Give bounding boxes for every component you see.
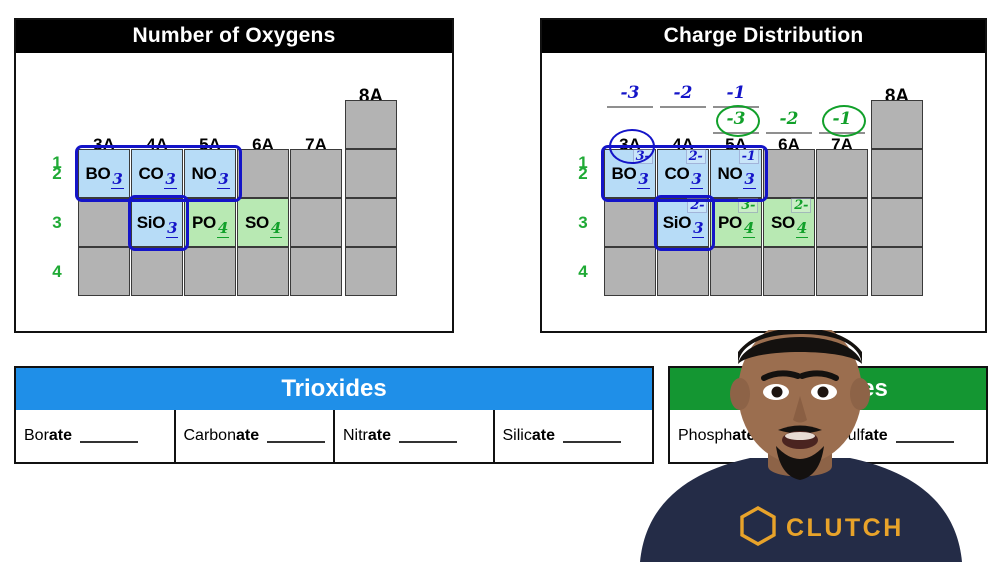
handwritten-subscript: 3: [690, 170, 702, 189]
oxyanion-cell-no3: NO3-1: [710, 149, 762, 198]
formula: SiO3: [137, 213, 178, 233]
oxyanion-label: Borate: [24, 427, 72, 445]
green-circle-5A: [716, 105, 760, 137]
handwritten-charge: 2-: [686, 149, 706, 164]
noble-gas-cell: [345, 149, 397, 198]
handwritten-charge: 2-: [687, 198, 707, 213]
presenter-figure: CLUTCH: [600, 330, 1000, 562]
handwritten-subscript: 3: [217, 170, 229, 189]
formula: BO33-: [611, 164, 648, 184]
element-cell: [763, 149, 815, 198]
handwritten-subscript: 3: [692, 219, 704, 238]
element-cell: [237, 247, 289, 296]
handwritten-subscript: 4: [217, 219, 229, 238]
oxyanion-label: Silicate: [503, 427, 555, 445]
noble-gas-cell: [345, 247, 397, 296]
number-of-oxygens-panel: Number of Oxygens 3A(3)4A(4)5A(5)6A(6)7A…: [14, 18, 454, 333]
right-panel-title: Charge Distribution: [542, 20, 985, 53]
formula: CO32-: [664, 164, 701, 184]
element-cell: [604, 247, 656, 296]
formula: SO42-: [771, 213, 807, 233]
charge-rule: [660, 106, 706, 108]
element-cell: [816, 149, 868, 198]
oxyanion-cell-bo3: BO3: [78, 149, 130, 198]
green-charge-6A: -2: [763, 109, 815, 129]
charge-rule: [766, 132, 812, 134]
blue-charge-4A: -2: [657, 83, 709, 103]
element-cell: [78, 198, 130, 247]
handwritten-subscript: 4: [270, 219, 282, 238]
element-cell: [78, 247, 130, 296]
row-label-3: 3: [46, 213, 68, 233]
oxyanion-cell-no3: NO3: [184, 149, 236, 198]
element-cell: [604, 198, 656, 247]
element-cell: [131, 247, 183, 296]
handwritten-subscript: 4: [743, 219, 755, 238]
row-label-4: 4: [572, 262, 594, 282]
element-cell: [290, 247, 342, 296]
noble-gas-cell: [871, 247, 923, 296]
noble-gas-cell: [345, 100, 397, 149]
answer-blank[interactable]: [80, 430, 138, 443]
handwritten-charge: 2-: [791, 198, 811, 213]
left-periodic-fragment: 3A(3)4A(4)5A(5)6A(6)7A(7)8A(8)1234BO3CO3…: [16, 53, 452, 331]
element-cell: [816, 247, 868, 296]
oxyanion-cell-sio3: SiO3: [131, 198, 183, 247]
oxyanion-cell-po4: PO4: [184, 198, 236, 247]
right-periodic-fragment: 3A(3)4A(4)5A(5)6A(6)7A(7)8A(8)1234BO33-C…: [542, 53, 985, 331]
noble-gas-cell: [871, 198, 923, 247]
formula: PO4: [192, 213, 228, 233]
oxyanion-name-cell: Carbonate: [176, 410, 336, 462]
oxyanion-label: Nitrate: [343, 427, 391, 445]
oxyanion-cell-po4: PO43-: [710, 198, 762, 247]
answer-blank[interactable]: [399, 430, 457, 443]
charge-distribution-panel: Charge Distribution 3A(3)4A(4)5A(5)6A(6)…: [540, 18, 987, 333]
oxyanion-cell-so4: SO4: [237, 198, 289, 247]
formula: NO3: [191, 164, 228, 184]
trioxides-items: BorateCarbonateNitrateSilicate: [16, 410, 652, 462]
handwritten-subscript: 3: [164, 170, 176, 189]
oxyanion-cell-sio3: SiO32-: [657, 198, 709, 247]
answer-blank[interactable]: [267, 430, 325, 443]
oxyanion-name-cell: Borate: [16, 410, 176, 462]
element-cell: [184, 247, 236, 296]
element-cell: [290, 198, 342, 247]
element-cell: [763, 247, 815, 296]
noble-gas-cell: [871, 100, 923, 149]
left-panel-title: Number of Oxygens: [16, 20, 452, 53]
element-cell: [290, 149, 342, 198]
handwritten-subscript: 3: [111, 170, 123, 189]
noble-gas-cell: [871, 149, 923, 198]
formula: SO4: [245, 213, 281, 233]
blue-charge-5A: -1: [710, 83, 762, 103]
formula: NO3-1: [717, 164, 754, 184]
handwritten-charge: -1: [739, 149, 759, 164]
element-cell: [816, 198, 868, 247]
green-circle-7A: [822, 105, 866, 137]
handwritten-subscript: 3: [637, 170, 649, 189]
oxyanion-cell-co3: CO3: [131, 149, 183, 198]
row-label-2: 2: [46, 164, 68, 184]
oxyanion-cell-co3: CO32-: [657, 149, 709, 198]
clutch-logo-text: CLUTCH: [786, 514, 904, 542]
element-cell: [657, 247, 709, 296]
handwritten-subscript: 4: [796, 219, 808, 238]
lesson-slide: Number of Oxygens 3A(3)4A(4)5A(5)6A(6)7A…: [0, 0, 1000, 562]
element-cell: [237, 149, 289, 198]
oxyanion-name-cell: Nitrate: [335, 410, 495, 462]
formula: BO3: [85, 164, 122, 184]
handwritten-subscript: 3: [743, 170, 755, 189]
formula: SiO32-: [663, 213, 704, 233]
formula: PO43-: [718, 213, 754, 233]
row-label-3: 3: [572, 213, 594, 233]
blue-circle-3a: [609, 129, 655, 164]
noble-gas-cell: [345, 198, 397, 247]
blue-charge-3A: -3: [604, 83, 656, 103]
oxyanion-cell-so4: SO42-: [763, 198, 815, 247]
row-label-2: 2: [572, 164, 594, 184]
charge-rule: [607, 106, 653, 108]
element-cell: [710, 247, 762, 296]
trioxides-banner: Trioxides BorateCarbonateNitrateSilicate: [14, 366, 654, 464]
oxyanion-label: Carbonate: [184, 427, 260, 445]
formula: CO3: [138, 164, 175, 184]
trioxides-title: Trioxides: [16, 368, 652, 410]
presenter-video-overlay: CLUTCH: [600, 330, 1000, 562]
handwritten-subscript: 3: [166, 219, 178, 238]
row-label-4: 4: [46, 262, 68, 282]
handwritten-charge: 3-: [738, 198, 758, 213]
